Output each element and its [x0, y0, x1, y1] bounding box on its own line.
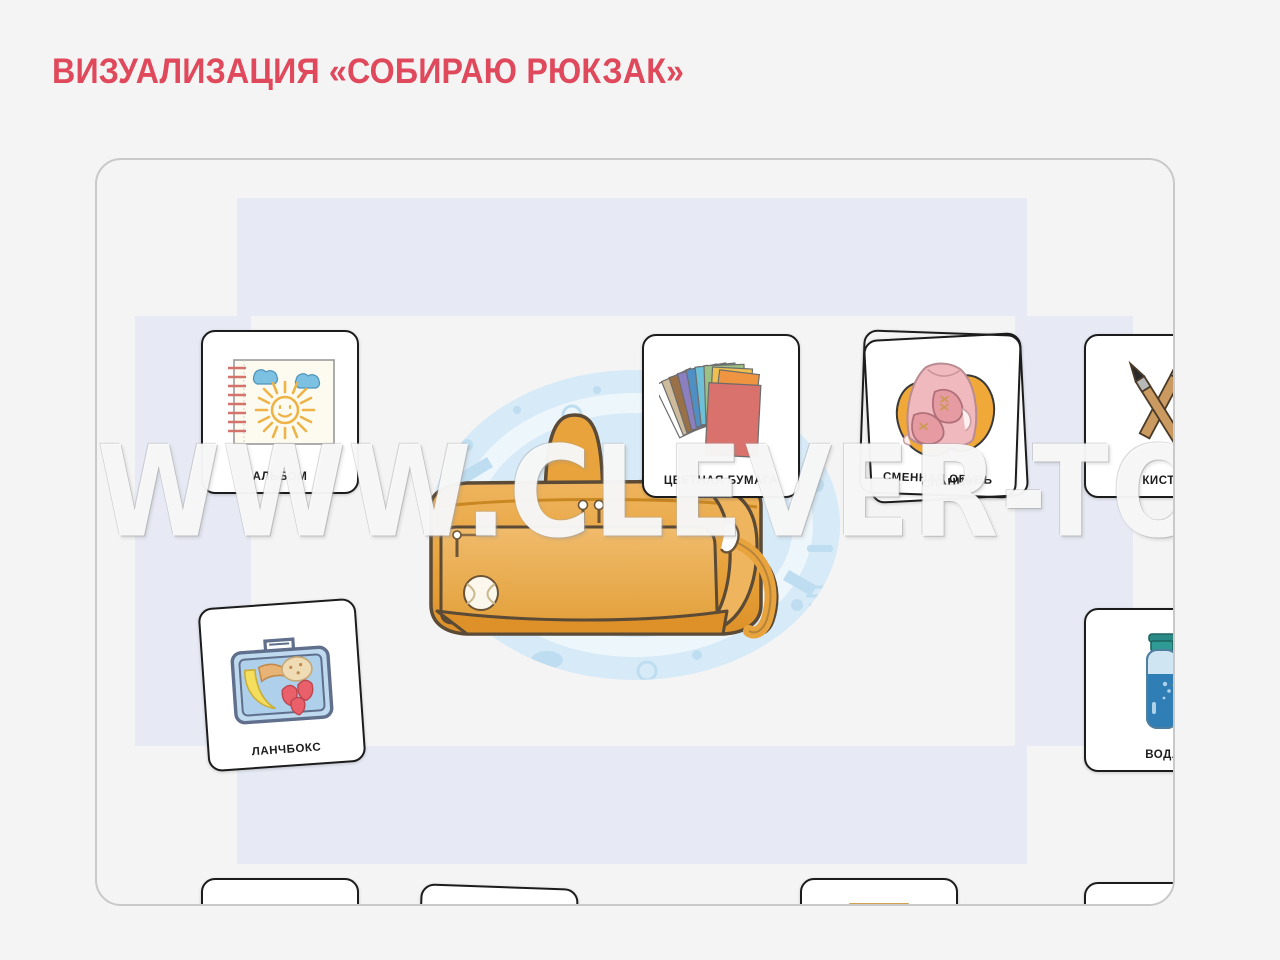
card-label: ЛАНЧБОКС — [251, 741, 322, 767]
page-title: ВИЗУАЛИЗАЦИЯ «СОБИРАЮ РЮКЗАК» — [52, 52, 684, 92]
guide-band-top — [237, 198, 1027, 316]
card-lunchbox[interactable]: ЛАНЧБОКС — [197, 598, 366, 773]
card-label: ВОДА — [1145, 749, 1175, 770]
card-label: КИСТИ — [1142, 475, 1175, 496]
water-bottle-icon — [1086, 610, 1175, 749]
poster-root: ВИЗУАЛИЗАЦИЯ «СОБИРАЮ РЮКЗАК» — [0, 0, 1280, 960]
watercolor-set-icon — [1086, 884, 1175, 906]
card-label: ЦВЕТНАЯ БУМАГА — [664, 475, 778, 496]
card-label: СМЕННАЯ ОБУВЬ — [882, 471, 992, 496]
guide-band-bottom — [237, 746, 1027, 864]
center-bag-illustration — [397, 355, 877, 695]
card-keys[interactable]: КЛЮЧИ — [415, 883, 579, 906]
shoe-bag-icon — [861, 331, 1020, 475]
colored-paper-icon — [644, 336, 798, 475]
sketchbook-icon — [203, 332, 357, 471]
scissors-icon — [203, 880, 357, 906]
card-music-book[interactable]: НОТНАЯ ТЕТРАДЬ — [800, 878, 958, 906]
paint-brushes-icon — [1086, 336, 1175, 475]
card-color-paper[interactable]: ЦВЕТНАЯ БУМАГА — [642, 334, 800, 498]
duffel-bag-icon — [397, 355, 877, 695]
keys-icon — [418, 885, 577, 906]
visualization-board: АЛЬБОМ — [95, 158, 1175, 906]
card-album[interactable]: АЛЬБОМ — [201, 330, 359, 494]
card-water[interactable]: ВОДА — [1084, 608, 1175, 772]
card-scissors[interactable]: НОЖНИЦЫ — [201, 878, 359, 906]
card-paints[interactable]: КРАСКИ — [1084, 882, 1175, 906]
card-label: АЛЬБОМ — [253, 471, 308, 492]
music-notebook-icon — [802, 880, 956, 906]
card-spare-shoes[interactable]: СМЕННАЯ ОБУВЬ — [858, 329, 1022, 498]
card-brushes[interactable]: КИСТИ — [1084, 334, 1175, 498]
tennis-ball-emblem — [464, 576, 498, 610]
lunchbox-icon — [200, 600, 363, 749]
